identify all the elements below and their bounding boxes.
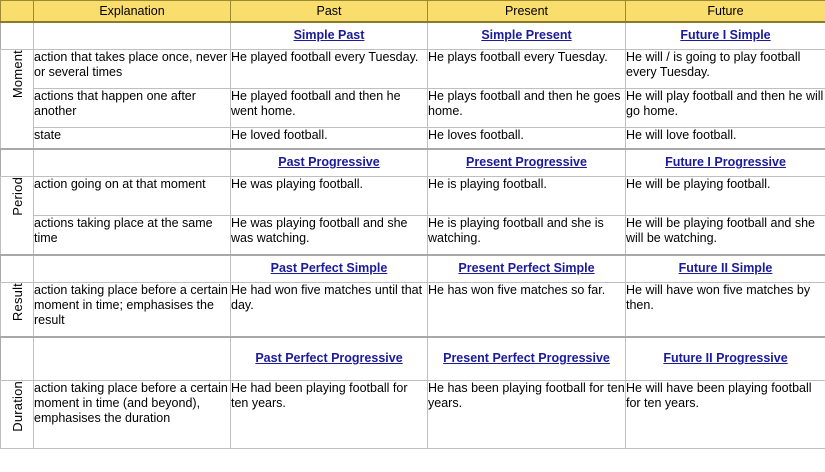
example-cell-past: He had won five matches until that day. [231, 283, 428, 337]
spacer-cell [1, 149, 34, 177]
explanation-cell: actions that happen one after another [34, 89, 231, 128]
example-cell-future: He will love football. [626, 128, 825, 149]
spacer-cell [1, 255, 34, 283]
example-cell-past: He was playing football. [231, 177, 428, 216]
group-label-text: Period [10, 177, 25, 216]
tense-link-future-ii-simple[interactable]: Future II Simple [626, 257, 825, 280]
table-row: Moment action that takes place once, nev… [1, 50, 825, 89]
tense-link-simple-present[interactable]: Simple Present [428, 24, 625, 47]
explanation-cell: state [34, 128, 231, 149]
page-root: Explanation Past Present Future Simple P… [0, 0, 825, 472]
example-cell-future: He will have won five matches by then. [626, 283, 825, 337]
tense-cell-present-moment: Simple Present [428, 22, 626, 50]
tense-cell-past-result: Past Perfect Simple [231, 255, 428, 283]
header-cell-past: Past [231, 1, 428, 22]
tense-link-present-perfect-progressive[interactable]: Present Perfect Progressive [428, 347, 625, 370]
example-cell-future: He will be playing football. [626, 177, 825, 216]
spacer-cell [1, 337, 34, 381]
example-cell-future: He will / is going to play football ever… [626, 50, 825, 89]
table-row: Duration action taking place before a ce… [1, 381, 825, 449]
tense-link-future-i-simple[interactable]: Future I Simple [626, 24, 825, 47]
header-cell-explanation: Explanation [34, 1, 231, 22]
tense-link-past-progressive[interactable]: Past Progressive [231, 151, 427, 174]
table-row: Period action going on at that moment He… [1, 177, 825, 216]
example-cell-past: He played football and then he went home… [231, 89, 428, 128]
tense-link-present-progressive[interactable]: Present Progressive [428, 151, 625, 174]
tense-name-row-period: Past Progressive Present Progressive Fut… [1, 149, 825, 177]
example-cell-past: He was playing football and she was watc… [231, 216, 428, 255]
spacer-cell [34, 255, 231, 283]
group-label-moment: Moment [1, 50, 34, 149]
tense-cell-future-moment: Future I Simple [626, 22, 825, 50]
tense-cell-past-moment: Simple Past [231, 22, 428, 50]
example-cell-future: He will be playing football and she will… [626, 216, 825, 255]
explanation-cell: action that takes place once, never or s… [34, 50, 231, 89]
tense-link-simple-past[interactable]: Simple Past [231, 24, 427, 47]
tense-cell-future-duration: Future II Progressive [626, 337, 825, 381]
tense-link-future-i-progressive[interactable]: Future I Progressive [626, 151, 825, 174]
tense-cell-present-period: Present Progressive [428, 149, 626, 177]
spacer-cell [34, 22, 231, 50]
header-cell-present: Present [428, 1, 626, 22]
spacer-cell [1, 22, 34, 50]
example-cell-past: He played football every Tuesday. [231, 50, 428, 89]
header-cell-future: Future [626, 1, 825, 22]
example-cell-future: He will have been playing football for t… [626, 381, 825, 449]
table-header-row: Explanation Past Present Future [1, 1, 825, 22]
example-cell-present: He loves football. [428, 128, 626, 149]
example-cell-present: He has been playing football for ten yea… [428, 381, 626, 449]
explanation-cell: action taking place before a certain mom… [34, 283, 231, 337]
tense-name-row-result: Past Perfect Simple Present Perfect Simp… [1, 255, 825, 283]
tense-link-past-perfect-simple[interactable]: Past Perfect Simple [231, 257, 427, 280]
table-row: state He loved football. He loves footba… [1, 128, 825, 149]
tense-cell-present-result: Present Perfect Simple [428, 255, 626, 283]
group-label-period: Period [1, 177, 34, 255]
group-label-text: Result [10, 283, 25, 321]
example-cell-present: He is playing football. [428, 177, 626, 216]
example-cell-present: He plays football and then he goes home. [428, 89, 626, 128]
tense-link-past-perfect-progressive[interactable]: Past Perfect Progressive [231, 347, 427, 370]
explanation-cell: action going on at that moment [34, 177, 231, 216]
example-cell-past: He had been playing football for ten yea… [231, 381, 428, 449]
group-label-duration: Duration [1, 381, 34, 449]
table-row: actions taking place at the same time He… [1, 216, 825, 255]
spacer-cell [34, 149, 231, 177]
spacer-cell [34, 337, 231, 381]
english-tenses-table: Explanation Past Present Future Simple P… [0, 0, 825, 449]
example-cell-past: He loved football. [231, 128, 428, 149]
table-row: Result action taking place before a cert… [1, 283, 825, 337]
tense-name-row-moment: Simple Past Simple Present Future I Simp… [1, 22, 825, 50]
example-cell-future: He will play football and then he will g… [626, 89, 825, 128]
tense-link-future-ii-progressive[interactable]: Future II Progressive [626, 347, 825, 370]
header-cell-blank [1, 1, 34, 22]
group-label-text: Moment [10, 50, 25, 98]
explanation-cell: action taking place before a certain mom… [34, 381, 231, 449]
explanation-cell: actions taking place at the same time [34, 216, 231, 255]
tense-cell-future-period: Future I Progressive [626, 149, 825, 177]
example-cell-present: He is playing football and she is watchi… [428, 216, 626, 255]
group-label-result: Result [1, 283, 34, 337]
group-label-text: Duration [10, 381, 25, 432]
tense-cell-future-result: Future II Simple [626, 255, 825, 283]
tense-cell-past-period: Past Progressive [231, 149, 428, 177]
example-cell-present: He plays football every Tuesday. [428, 50, 626, 89]
tense-cell-present-duration: Present Perfect Progressive [428, 337, 626, 381]
table-row: actions that happen one after another He… [1, 89, 825, 128]
tense-name-row-duration: Past Perfect Progressive Present Perfect… [1, 337, 825, 381]
example-cell-present: He has won five matches so far. [428, 283, 626, 337]
tense-cell-past-duration: Past Perfect Progressive [231, 337, 428, 381]
tense-link-present-perfect-simple[interactable]: Present Perfect Simple [428, 257, 625, 280]
